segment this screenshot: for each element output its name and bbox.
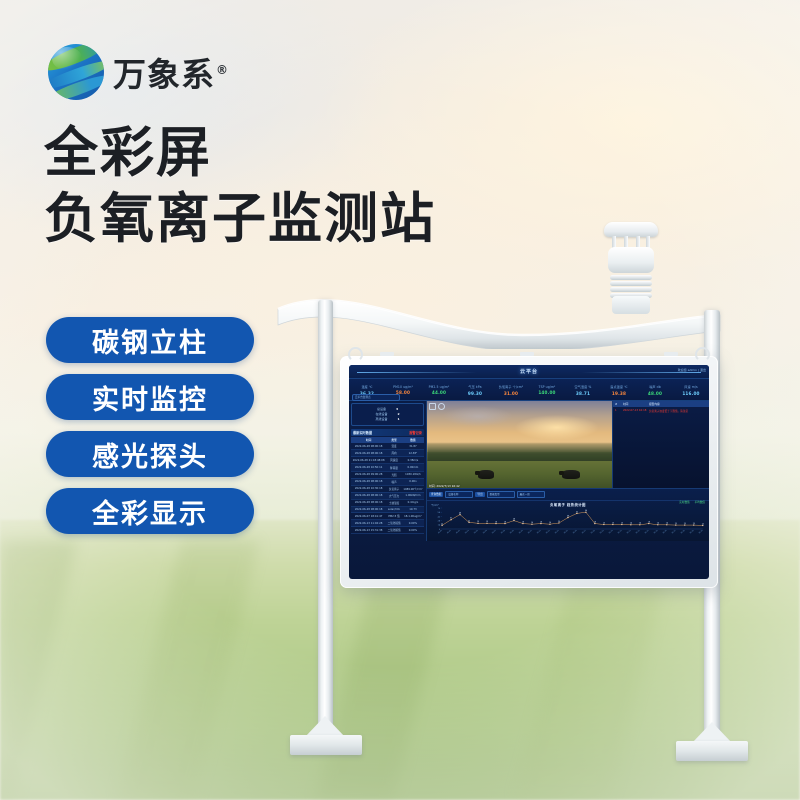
metric-value: 44.00	[421, 390, 457, 395]
metric-3: 气压 kPa 99.30	[457, 380, 493, 400]
svg-text:06-09: 06-09	[510, 530, 515, 534]
table-row[interactable]: 2022-06-28 10:30:18负氧离子1089.00个/cm³	[351, 485, 424, 492]
range-select[interactable]: 最近一周	[517, 491, 545, 499]
chart-toolbar: 查询数据 设备名称 导出 数据类型 最近一周	[427, 489, 709, 501]
svg-text:06-08: 06-08	[501, 530, 506, 534]
metric-label: PM10 ug/m³	[385, 385, 421, 389]
table-row[interactable]: 2022-06-13 11:02:28二氧化硫值0.00%	[351, 520, 424, 527]
table-cell: 风向	[386, 450, 402, 457]
svg-text:12: 12	[441, 523, 443, 525]
metric-9: 风速 m/s 116.00	[673, 380, 709, 400]
svg-text:22: 22	[468, 520, 470, 522]
table-cell: 大气压力	[386, 492, 402, 499]
legend-item-0: 实时数值	[679, 500, 689, 504]
line-chart: 014284256701206-013106-024806-032206-041…	[431, 505, 705, 536]
table-row[interactable]: 2022-06-28 08:00:18温度31.87	[351, 443, 424, 450]
cattle-2	[562, 470, 580, 479]
bezel-clip-3	[664, 352, 678, 356]
table-cell: 31.87	[402, 443, 424, 450]
alarm-panel: # 时间 报警内容 1 2022-07-13 16:18 负氧离子浓度低于下限值…	[612, 401, 709, 489]
dashboard-header: 云平台 欢迎您 admin | 退出	[349, 365, 709, 379]
svg-text:06-29: 06-29	[690, 530, 695, 534]
svg-text:14: 14	[666, 523, 668, 525]
svg-text:48: 48	[459, 513, 461, 515]
table-cell: 2022-06-28 10:50:11	[351, 464, 386, 471]
table-cell: 0.00%	[402, 520, 424, 527]
query-button[interactable]: 查询数据	[429, 492, 443, 498]
svg-text:06-24: 06-24	[645, 530, 650, 534]
table-cell: 2022-06-28 08:00:18	[351, 443, 386, 450]
table-row[interactable]: 2022-06-28 08:00:18土壤湿度0.4mg/L	[351, 499, 424, 506]
column-header: #	[615, 402, 623, 406]
svg-text:14: 14	[630, 523, 632, 525]
cattle-1	[478, 470, 494, 479]
table-cell: 2022-06-28 08:00:18	[351, 450, 386, 457]
svg-text:06-26: 06-26	[663, 530, 668, 534]
svg-text:15: 15	[612, 522, 614, 524]
product-marketing-image: 万象系® 全彩屏 负氧离子监测站 碳钢立柱 实时监控 感光探头 全彩显示	[0, 0, 800, 800]
weather-sensor-icon	[600, 222, 662, 314]
alarm-row[interactable]: 1 2022-07-13 16:18 负氧离子浓度低于下限值，请注意	[613, 407, 709, 413]
table-cell: PM2.5 值	[386, 513, 402, 520]
metric-label: TSP ug/m³	[529, 385, 565, 389]
svg-text:06-27: 06-27	[672, 530, 677, 534]
metric-label: 空气湿度 %	[565, 384, 601, 389]
device-stats: 总设备3 在线设备2 离线设备1	[351, 403, 424, 426]
table-cell: 2022-06-28 08:00:18	[351, 499, 386, 506]
svg-text:20: 20	[558, 521, 560, 523]
metric-label: PM2.5 ug/m³	[421, 385, 457, 389]
svg-text:06-30: 06-30	[699, 530, 704, 534]
user-menu[interactable]: 欢迎您 admin | 退出	[678, 368, 706, 372]
left-base-plate	[290, 735, 362, 755]
metric-bar: 温度 ℃ 36.32 PM10 ug/m³ 58.00 PM2.5 ug/m³ …	[349, 379, 709, 401]
realtime-data-table: 时间 类型 数值 2022-06-28 08:00:18温度31.872022-…	[351, 437, 424, 534]
svg-text:18: 18	[522, 522, 524, 524]
metric-4: 负氧离子 个/cm³ 31.00	[493, 380, 529, 400]
table-cell: 0.00n	[402, 478, 424, 485]
snapshot-icon[interactable]	[438, 403, 445, 410]
svg-text:06-06: 06-06	[483, 530, 488, 534]
svg-text:18: 18	[594, 522, 596, 524]
metric-value: 38.71	[565, 391, 601, 396]
left-base-cone	[305, 716, 345, 737]
svg-text:16: 16	[531, 522, 533, 524]
legend-item-1: 平均数值	[695, 500, 705, 504]
main-panel: 时间: 2022/7/13 16:42 山东 潍坊 # 时间 报警内容	[427, 401, 709, 541]
chart-plot: 个/cm³ 014284256701206-013106-024806-0322…	[431, 505, 705, 536]
metric-label: 噪声 db	[637, 384, 673, 389]
monitoring-station: 云平台 欢迎您 admin | 退出 云平台监测点 温度 ℃ 36.32 PM1…	[0, 0, 800, 800]
alarm-records-link[interactable]: 报警记录	[409, 430, 422, 435]
metric-7: 露点温度 ℃ 19.38	[601, 380, 637, 400]
table-cell: 风速度	[386, 457, 402, 464]
mount-hook-left	[348, 347, 363, 362]
table-cell: 二氧化硫值	[386, 520, 402, 527]
svg-text:06-17: 06-17	[582, 530, 587, 534]
metric-label: 温度 ℃	[349, 384, 385, 389]
metric-label: 气压 kPa	[457, 384, 493, 389]
table-cell: 负氧离子	[386, 485, 402, 492]
table-row[interactable]: 2022-06-07 18:41:47PM2.5 值18.1.00ug/m³	[351, 513, 424, 520]
svg-text:06-04: 06-04	[465, 530, 470, 534]
table-cell: 0.00mm	[402, 464, 424, 471]
svg-text:52: 52	[576, 511, 578, 513]
left-panel: 总设备3 在线设备2 离线设备1 最新实时数据 报警记录 时间	[349, 401, 427, 541]
svg-text:42: 42	[438, 516, 440, 518]
table-cell: 0.00%	[402, 527, 424, 534]
right-base-cone	[692, 722, 732, 743]
svg-text:06-11: 06-11	[528, 530, 533, 534]
right-base-plate	[676, 741, 748, 761]
svg-text:06-28: 06-28	[681, 530, 686, 534]
svg-text:28: 28	[513, 519, 515, 521]
table-cell: 2022-06-13 15:31:38	[351, 527, 386, 534]
svg-text:13: 13	[675, 523, 677, 525]
table-row[interactable]: 2022-06-28 10:50:11降雨量0.00mm	[351, 464, 424, 471]
fullscreen-icon[interactable]	[429, 403, 436, 410]
table-row[interactable]: 2022-06-28 09:00:28光照1930.18lx/h	[351, 471, 424, 478]
stat-row: 离线设备1	[354, 417, 421, 422]
type-select[interactable]: 数据类型	[487, 491, 515, 499]
table-cell: 1089.00个/cm³	[402, 485, 424, 492]
alarm-time: 2022-07-13 16:18	[623, 409, 649, 413]
svg-text:18: 18	[540, 522, 542, 524]
metric-value: 116.00	[673, 391, 709, 396]
table-row[interactable]: 2022-06-28 21:18:48:08风速度0.38m/s	[351, 457, 424, 464]
metric-5: TSP ug/m³ 140.00	[529, 380, 565, 400]
table-cell: 2022-06-28 08:00:18	[351, 478, 386, 485]
svg-text:06-20: 06-20	[609, 530, 614, 534]
metric-2: PM2.5 ug/m³ 44.00	[421, 380, 457, 400]
table-row[interactable]: 2022-06-28 08:00:18风向12.38°	[351, 450, 424, 457]
svg-text:38: 38	[567, 516, 569, 518]
video-toolbar[interactable]	[429, 403, 445, 410]
svg-text:18: 18	[648, 522, 650, 524]
table-section-header: 最新实时数据 报警记录	[351, 429, 424, 436]
svg-text:14: 14	[639, 523, 641, 525]
svg-text:28: 28	[438, 521, 441, 523]
table-cell: 2022-06-07 18:41:47	[351, 513, 386, 520]
dashboard-title: 云平台	[349, 368, 709, 375]
table-row[interactable]: 2022-06-13 15:31:38二氧化碳值0.00%	[351, 527, 424, 534]
svg-text:19: 19	[477, 521, 479, 523]
site-selector[interactable]: 云平台监测点	[352, 394, 400, 401]
metric-label: 露点温度 ℃	[601, 384, 637, 389]
svg-text:16: 16	[549, 522, 551, 524]
svg-text:06-03: 06-03	[456, 530, 461, 534]
svg-text:18: 18	[504, 522, 506, 524]
svg-text:06-19: 06-19	[600, 530, 605, 534]
mount-hook-right	[695, 347, 710, 362]
table-cell: 2022-06-28 21:18:48:08	[351, 457, 386, 464]
table-cell: 2022-06-28 10:30:18	[351, 485, 386, 492]
column-header: 时间	[623, 402, 649, 406]
table-cell: 12.38°	[402, 450, 424, 457]
table-cell: 18.1.00ug/m³	[402, 513, 424, 520]
svg-text:19: 19	[486, 521, 488, 523]
svg-text:06-23: 06-23	[636, 530, 641, 534]
svg-text:06-10: 06-10	[519, 530, 524, 534]
metric-value: 48.00	[637, 391, 673, 396]
svg-text:06-07: 06-07	[492, 530, 497, 534]
table-cell: 土壤湿度	[386, 499, 402, 506]
svg-text:13: 13	[693, 523, 695, 525]
svg-text:18: 18	[495, 522, 497, 524]
device-select[interactable]: 设备名称	[445, 491, 473, 499]
chart-panel: 查询数据 设备名称 导出 数据类型 最近一周 负氧离子 趋势统计图 实时数值 平…	[427, 488, 709, 541]
svg-text:06-21: 06-21	[618, 530, 623, 534]
metric-6: 空气湿度 % 38.71	[565, 380, 601, 400]
svg-text:15: 15	[621, 522, 623, 524]
svg-text:06-05: 06-05	[474, 530, 479, 534]
svg-text:06-02: 06-02	[447, 530, 452, 534]
led-screen[interactable]: 云平台 欢迎您 admin | 退出 云平台监测点 温度 ℃ 36.32 PM1…	[349, 365, 709, 579]
metric-value: 140.00	[529, 390, 565, 395]
dashboard: 云平台 欢迎您 admin | 退出 云平台监测点 温度 ℃ 36.32 PM1…	[349, 365, 709, 579]
table-cell: 2022-06-13 11:02:28	[351, 520, 386, 527]
metric-value: 19.38	[601, 391, 637, 396]
svg-text:06-13: 06-13	[546, 530, 551, 534]
table-cell: 光照	[386, 471, 402, 478]
left-pole	[318, 300, 333, 740]
metric-label: 风速 m/s	[673, 384, 709, 389]
svg-text:06-22: 06-22	[627, 530, 632, 534]
svg-text:06-18: 06-18	[591, 530, 596, 534]
svg-text:15: 15	[603, 522, 605, 524]
metric-value: 31.00	[493, 391, 529, 396]
svg-text:06-15: 06-15	[564, 530, 569, 534]
svg-text:31: 31	[450, 518, 452, 520]
svg-text:13: 13	[684, 523, 686, 525]
svg-text:70: 70	[438, 508, 441, 510]
stat-value: 1	[397, 417, 399, 422]
table-row[interactable]: 2022-06-28 08:00:18噪声0.00n	[351, 478, 424, 485]
metric-value: 99.30	[457, 391, 493, 396]
svg-text:06-14: 06-14	[555, 530, 560, 534]
table-cell: 降雨量	[386, 464, 402, 471]
svg-text:14: 14	[657, 523, 659, 525]
y-axis-label: 个/cm³	[431, 503, 439, 507]
table-cell: 噪声	[386, 478, 402, 485]
svg-text:56: 56	[585, 510, 587, 512]
video-timestamp: 时间: 2022/7/13 16:42	[429, 484, 460, 488]
bezel-clip-1	[380, 352, 394, 356]
table-cell: 温度	[386, 443, 402, 450]
table-cell: 1.00kN/mm	[402, 492, 424, 499]
table-row[interactable]: 2022-06-28 08:00:18大气压力1.00kN/mm	[351, 492, 424, 499]
alarm-message: 负氧离子浓度低于下限值，请注意	[649, 409, 688, 413]
table-cell: 1930.18lx/h	[402, 471, 424, 478]
table-title: 最新实时数据	[353, 430, 372, 435]
svg-text:06-16: 06-16	[573, 530, 578, 534]
table-cell: 2022-06-28 08:00:18	[351, 492, 386, 499]
table-cell: 二氧化碳值	[386, 527, 402, 534]
column-header: 报警内容	[649, 402, 660, 406]
metric-label: 负氧离子 个/cm³	[493, 384, 529, 389]
table-cell: 2022-06-28 09:00:28	[351, 471, 386, 478]
alarm-index: 1	[615, 409, 623, 413]
svg-text:12: 12	[702, 523, 704, 525]
svg-text:06-12: 06-12	[537, 530, 542, 534]
stat-label: 离线设备	[375, 417, 387, 422]
table-cell: 0.38m/s	[402, 457, 424, 464]
led-screen-frame: 云平台 欢迎您 admin | 退出 云平台监测点 温度 ℃ 36.32 PM1…	[340, 356, 718, 588]
chart-legend: 实时数值 平均数值	[679, 500, 705, 504]
bezel-clip-2	[520, 352, 534, 356]
table-cell: 0.4mg/L	[402, 499, 424, 506]
export-button[interactable]: 导出	[475, 492, 484, 498]
svg-text:06-25: 06-25	[654, 530, 659, 534]
svg-text:56: 56	[438, 512, 441, 514]
metric-8: 噪声 db 48.00	[637, 380, 673, 400]
